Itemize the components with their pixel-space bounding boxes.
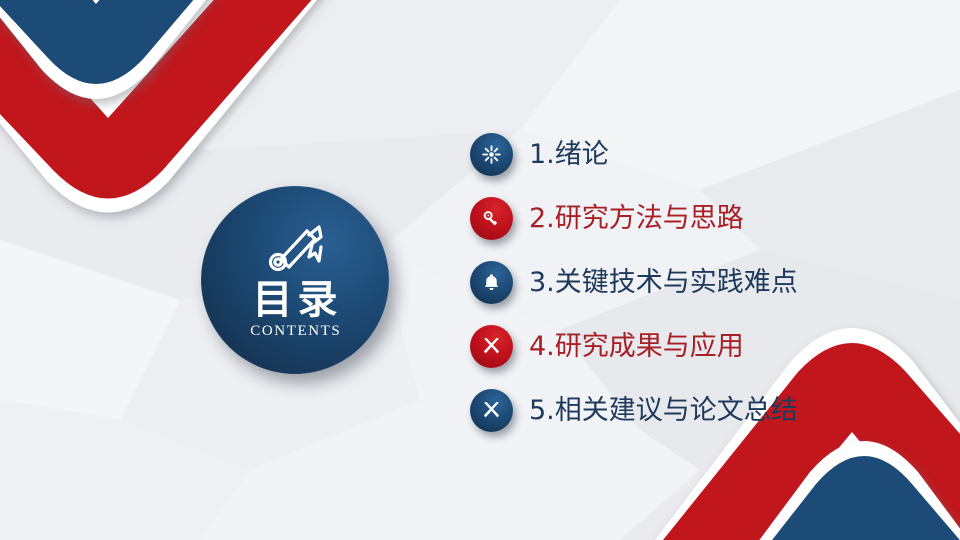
list-item[interactable]: 3.关键技术与实践难点 [470, 250, 900, 314]
sunburst-icon [481, 144, 502, 165]
list-item-label: 2.研究方法与思路 [529, 205, 744, 232]
presentation-slide: 目录 CONTENTS [0, 0, 960, 540]
list-item-label: 1.绪论 [529, 141, 609, 168]
list-item[interactable]: 2.研究方法与思路 [470, 186, 900, 250]
contents-badge: 目录 CONTENTS [201, 186, 389, 374]
bullet-5[interactable] [470, 389, 513, 432]
list-item-label: 5.相关建议与论文总结 [529, 397, 798, 424]
bullet-3[interactable] [470, 261, 513, 304]
diploma-scroll-icon [263, 221, 327, 277]
contents-list: 1.绪论 2.研究方法与思路 [470, 122, 900, 442]
key-icon [481, 208, 502, 229]
badge-title-cn: 目录 [248, 279, 343, 321]
crossed-tools-icon [481, 336, 502, 357]
bell-icon [481, 272, 502, 293]
bullet-1[interactable] [470, 133, 513, 176]
list-item[interactable]: 5.相关建议与论文总结 [470, 378, 900, 442]
bullet-2[interactable] [470, 197, 513, 240]
list-item-label: 4.研究成果与应用 [529, 333, 744, 360]
list-item[interactable]: 4.研究成果与应用 [470, 314, 900, 378]
crossed-tools-icon [481, 400, 502, 421]
list-item[interactable]: 1.绪论 [470, 122, 900, 186]
badge-title-en: CONTENTS [249, 323, 342, 340]
bullet-4[interactable] [470, 325, 513, 368]
list-item-label: 3.关键技术与实践难点 [529, 269, 798, 296]
